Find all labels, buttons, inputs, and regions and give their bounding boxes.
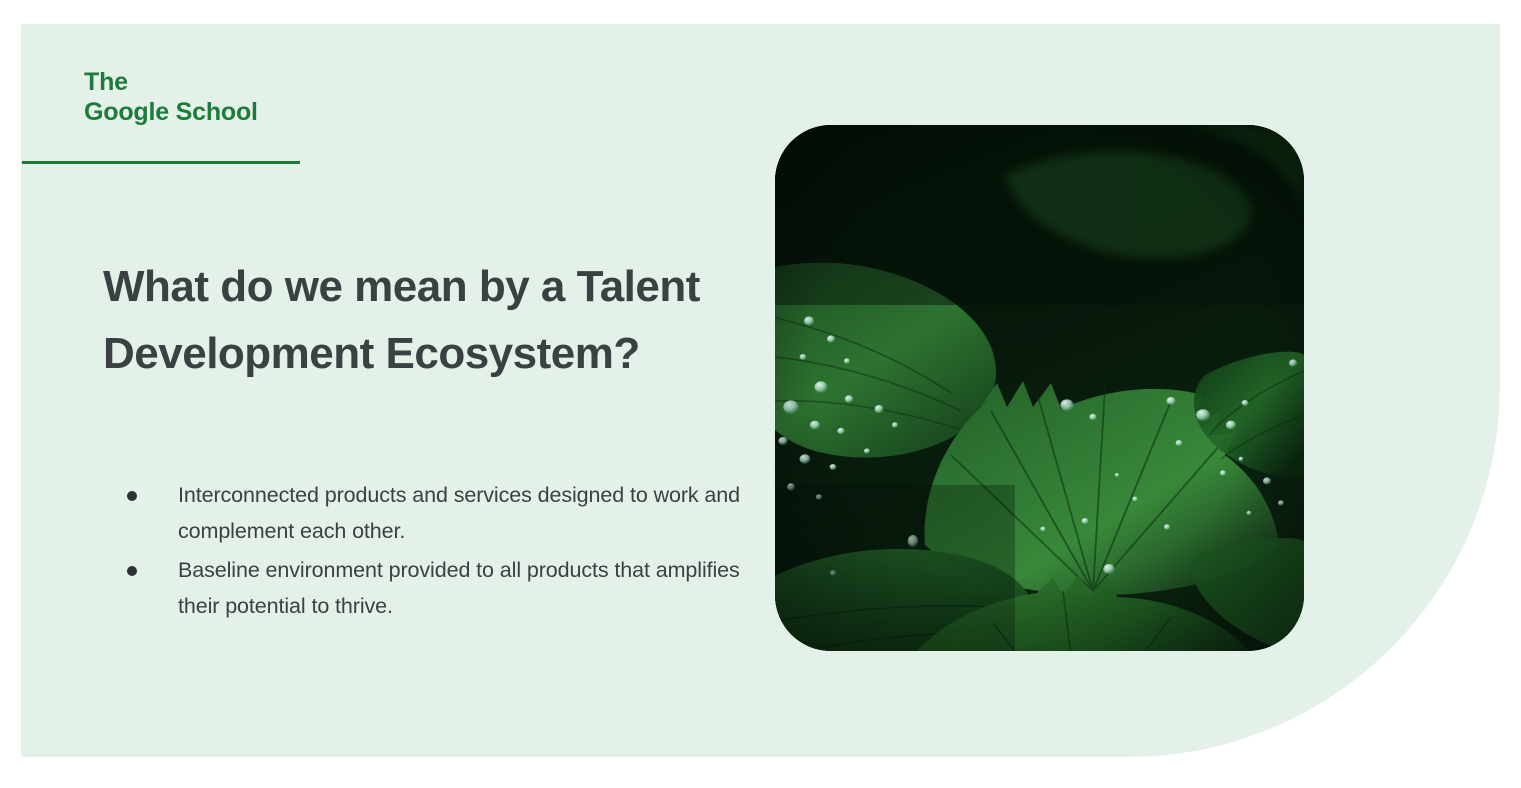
bullet-list: Interconnected products and services des… — [122, 478, 742, 628]
list-item: Baseline environment provided to all pro… — [122, 553, 742, 624]
brand-logo-line-2: Google School — [84, 97, 374, 127]
list-item-label: Interconnected products and services des… — [178, 483, 740, 543]
leaves-with-water-droplets-photo — [775, 125, 1304, 651]
bullet-dot-icon — [127, 491, 137, 501]
page-title: What do we mean by a Talent Development … — [103, 253, 723, 387]
slide-canvas: The Google School What do we mean by a T… — [0, 0, 1521, 788]
brand-underline-rule — [22, 161, 300, 164]
brand-logo-line-1: The — [84, 67, 374, 97]
brand-logo[interactable]: The Google School — [84, 67, 374, 127]
list-item: Interconnected products and services des… — [122, 478, 742, 549]
bullet-dot-icon — [127, 566, 137, 576]
list-item-label: Baseline environment provided to all pro… — [178, 558, 740, 618]
